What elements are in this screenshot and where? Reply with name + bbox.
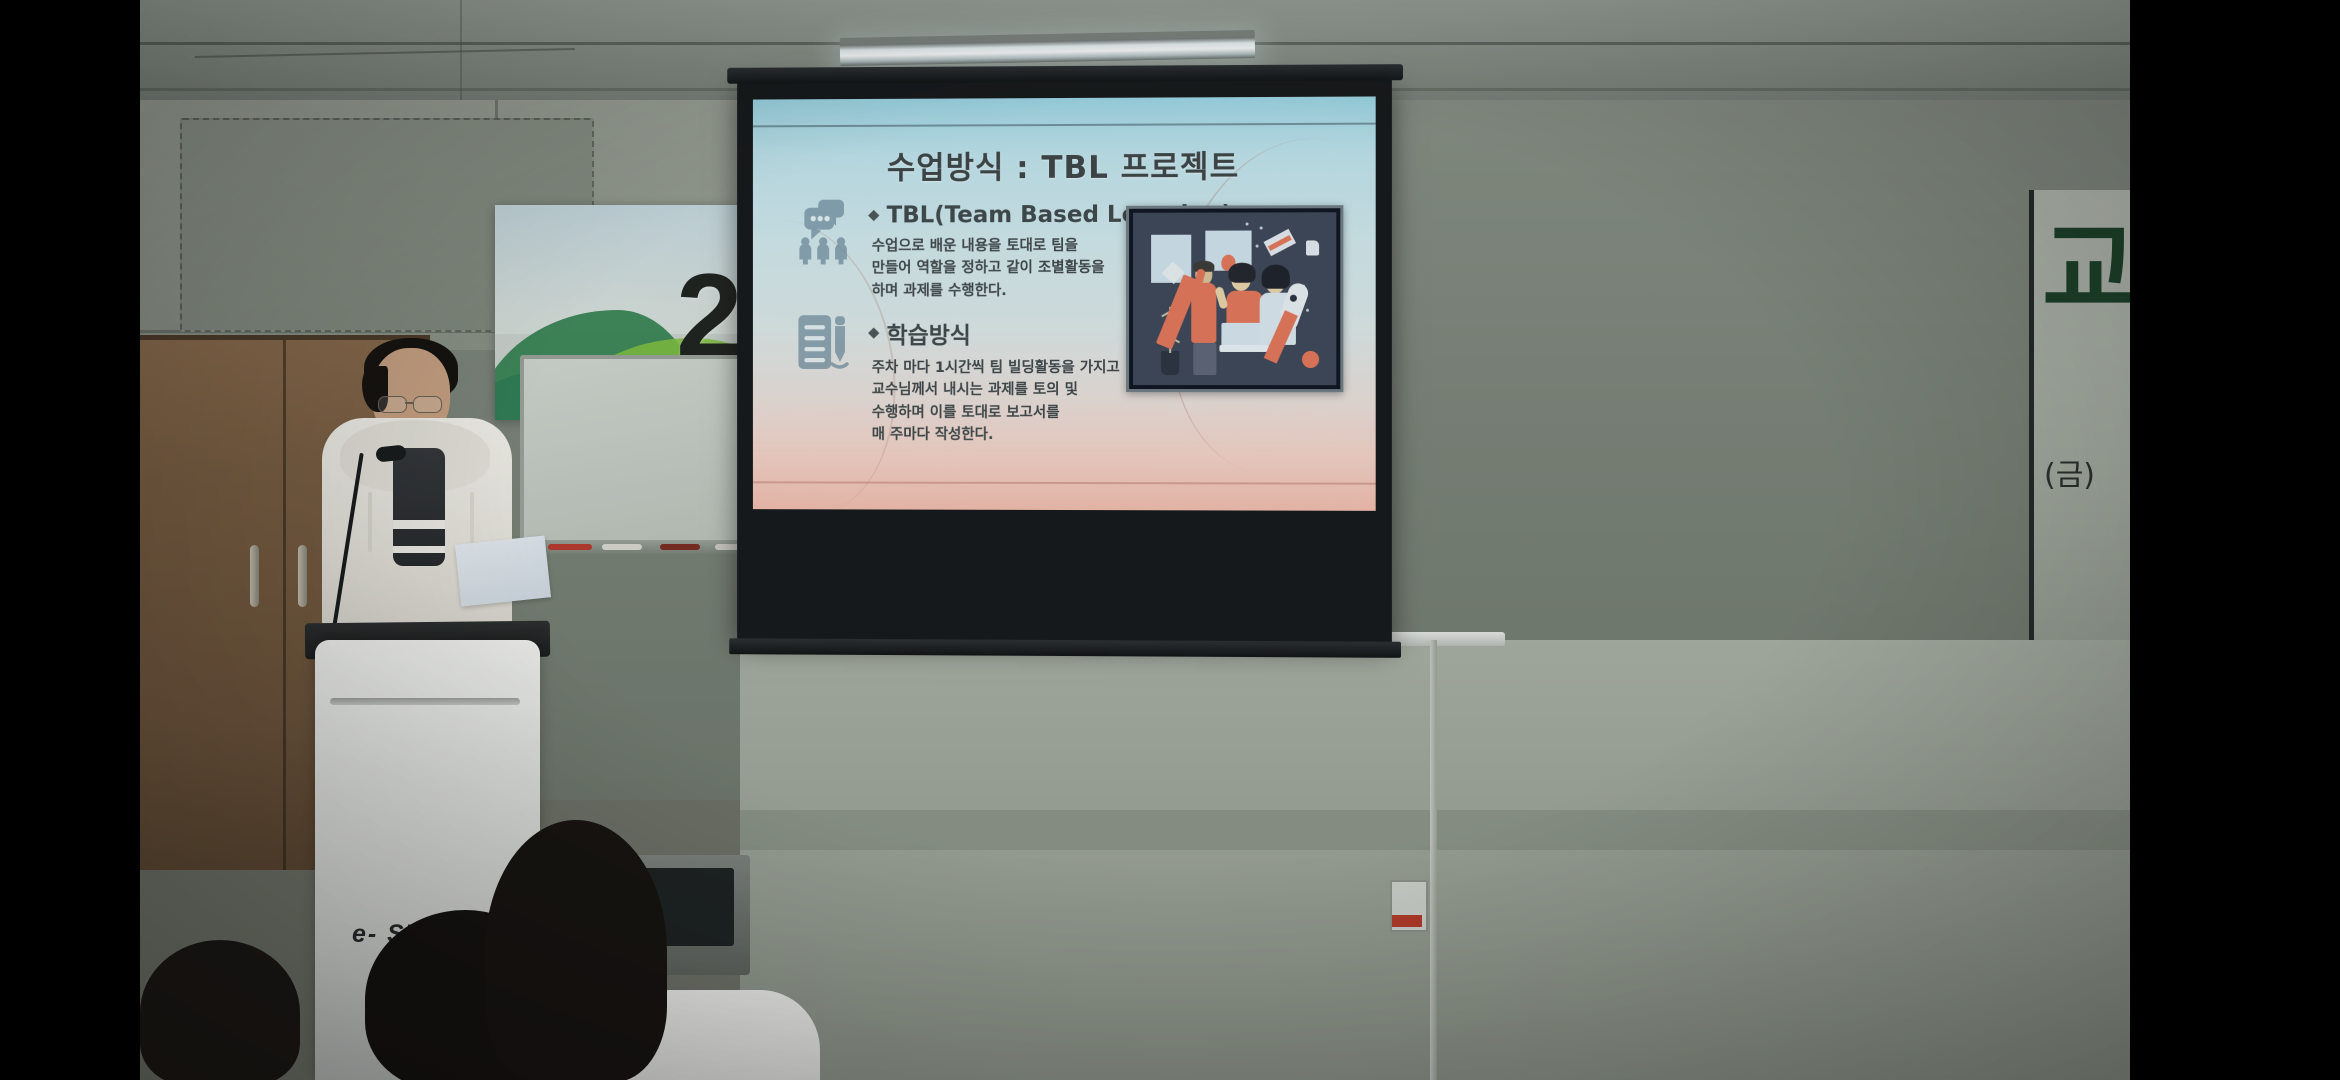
diamond-bullet-icon [868,210,879,221]
presentation-slide: 수업방식 : TBL 프로젝트 [753,96,1376,510]
wall-pipe [1430,640,1437,1080]
podium-groove [330,698,520,705]
document-pencil-icon [796,311,851,378]
side-banner-day: (금) [2044,450,2095,494]
slide-title: 수업방식 : TBL 프로젝트 [753,141,1376,188]
photo-scene: 2025 교 (금) 수업방식 : TBL 프로젝트 [0,0,2340,1080]
slide-block-2-heading: 학습방식 [887,316,971,350]
presenter-script-paper [455,535,551,606]
audience-member-2-ponytail [530,1000,622,1080]
team-collaboration-illustration [1126,205,1343,392]
hoodie-drawstring [368,492,372,552]
photograph: 2025 교 (금) 수업방식 : TBL 프로젝트 [140,0,2130,1080]
side-banner: 교 (금) [2029,190,2130,640]
presenter-shirt-stripe [393,520,445,529]
presenter-glasses [378,396,446,411]
slide-block-2-bullet: 학습방식 [870,316,1120,350]
team-discussion-icon [796,199,851,270]
letterbox-right [2130,0,2340,1080]
audience-member-3 [140,940,300,1080]
slide-block-2-body: 주차 마다 1시간씩 팀 빌딩활동을 가지고 교수님께서 내시는 과제를 토의 … [872,357,1120,447]
slide-block-2: 학습방식 주차 마다 1시간씩 팀 빌딩활동을 가지고 교수님께서 내시는 과제… [870,316,1120,447]
side-banner-char: 교 [2042,218,2130,322]
presenter-shirt-stripe [393,546,445,553]
projector-screen: 수업방식 : TBL 프로젝트 [737,80,1392,643]
letterbox-left [0,0,140,1080]
diamond-bullet-icon [868,327,879,338]
slide-top-rule [753,123,1376,128]
wall-fixture-label [1392,915,1422,927]
